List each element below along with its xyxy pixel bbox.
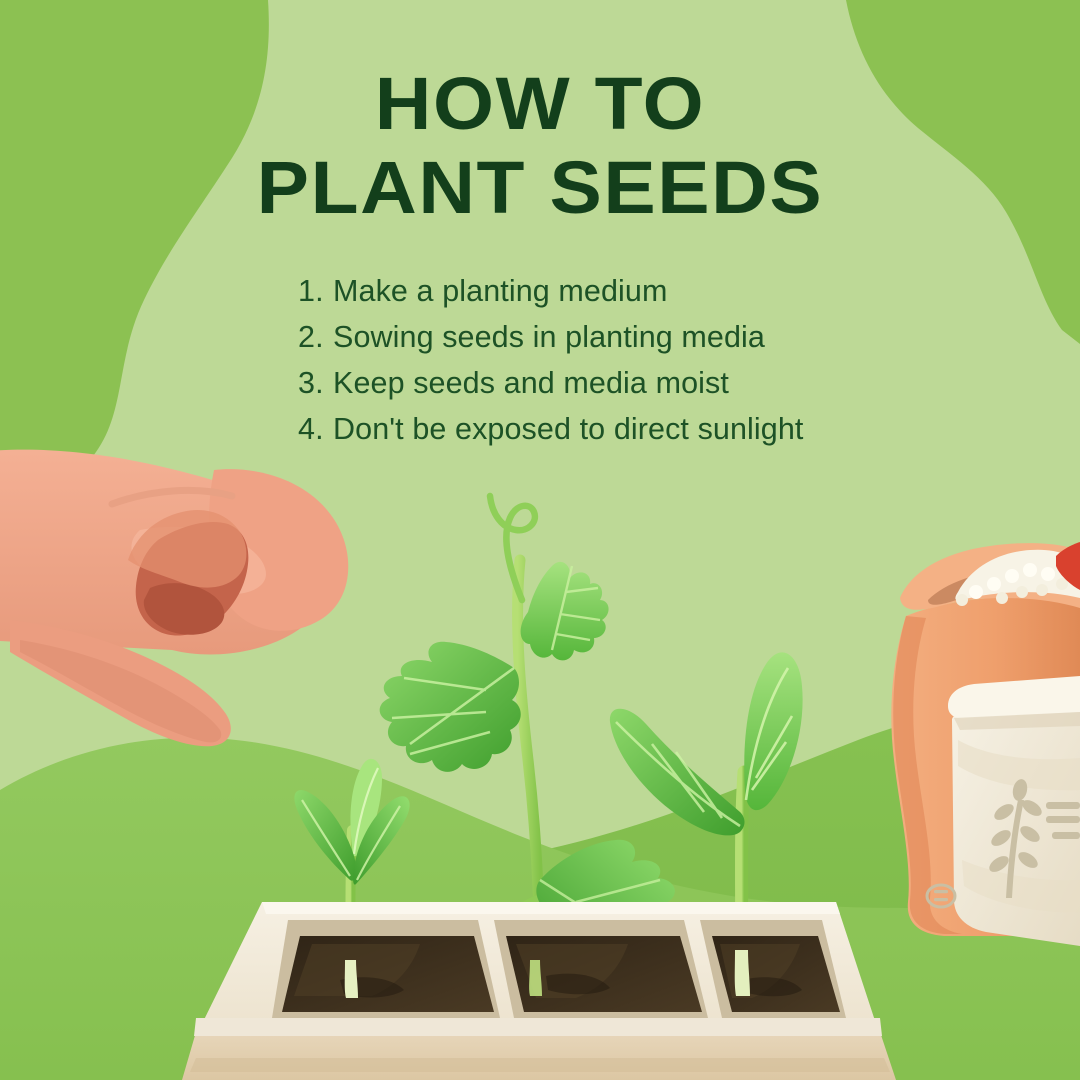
list-item: 4. Don't be exposed to direct sunlight: [298, 406, 938, 452]
left-stem-base: [345, 960, 358, 998]
list-item-label: Keep seeds and media moist: [333, 360, 729, 406]
list-item-number: 1.: [298, 268, 333, 314]
list-item: 3. Keep seeds and media moist: [298, 360, 938, 406]
tray-cell-2: [494, 920, 708, 1018]
list-item-label: Sowing seeds in planting media: [333, 314, 765, 360]
list-item-label: Make a planting medium: [333, 268, 667, 314]
list-item-number: 2.: [298, 314, 333, 360]
title-line-1: HOW TO: [0, 62, 1080, 146]
tray-base-shadow: [190, 1058, 890, 1072]
tray-cell-1: [272, 920, 500, 1018]
right-stem-base: [735, 950, 750, 996]
list-item-label: Don't be exposed to direct sunlight: [333, 406, 804, 452]
center-stem-base: [529, 960, 542, 996]
list-item: 1. Make a planting medium: [298, 268, 938, 314]
steps-list: 1. Make a planting medium 2. Sowing seed…: [298, 268, 938, 452]
title-line-2: PLANT SEEDS: [0, 146, 1080, 230]
tray-front-lip: [194, 1018, 882, 1036]
list-item-number: 3.: [298, 360, 333, 406]
tray-top-edge: [262, 902, 840, 914]
tray-base: [182, 1032, 896, 1080]
page-title: HOW TO PLANT SEEDS: [0, 62, 1080, 230]
infographic-poster: HOW TO PLANT SEEDS 1. Make a planting me…: [0, 0, 1080, 1080]
list-item: 2. Sowing seeds in planting media: [298, 314, 938, 360]
list-item-number: 4.: [298, 406, 333, 452]
tray-cell-3: [700, 920, 846, 1018]
